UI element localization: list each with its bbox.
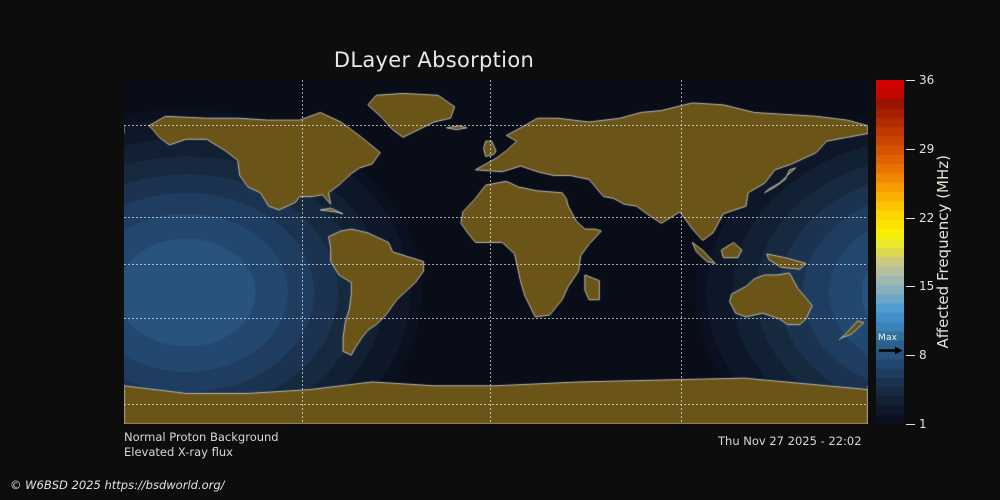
colorbar-tick-mark-15 <box>906 286 915 287</box>
world-map[interactable] <box>124 80 868 424</box>
note-proton-background: Normal Proton Background <box>124 430 279 444</box>
colorbar-axis-label-text: Affected Frequency (MHz) <box>934 155 952 349</box>
colorbar-tick-label-1: 1 <box>919 417 927 431</box>
colorbar-tick-mark-22 <box>906 218 915 219</box>
absorption-heatmap-canvas <box>124 80 868 424</box>
dlayer-absorption-map: DLayer Absorption 3629221581 Max Affecte… <box>0 0 1000 500</box>
colorbar-axis-label: Affected Frequency (MHz) <box>932 80 954 424</box>
page-title: DLayer Absorption <box>0 48 868 72</box>
copyright-notice: © W6BSD 2025 https://bsdworld.org/ <box>10 478 225 492</box>
timestamp: Thu Nov 27 2025 - 22:02 <box>718 434 862 448</box>
colorbar[interactable] <box>876 80 904 424</box>
colorbar-tick-label-8: 8 <box>919 348 927 362</box>
colorbar-tick-mark-1 <box>906 424 915 425</box>
colorbar-tick-mark-29 <box>906 149 915 150</box>
colorbar-gradient <box>876 80 904 424</box>
max-marker: Max <box>878 333 904 359</box>
colorbar-tick-mark-36 <box>906 80 915 81</box>
note-xray-flux: Elevated X-ray flux <box>124 445 233 459</box>
colorbar-tick-mark-8 <box>906 355 915 356</box>
max-arrow-icon <box>879 346 903 355</box>
max-label: Max <box>878 333 897 343</box>
